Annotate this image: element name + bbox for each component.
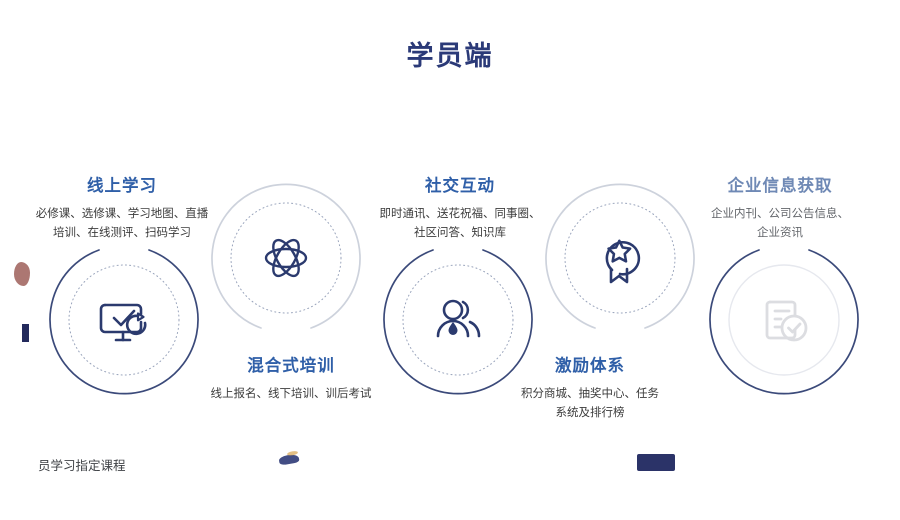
node-desc-enterprise-info-line1: 企业内刊、公司公告信息、 <box>665 205 895 224</box>
scan-artifact-bottom-right-block <box>637 454 675 471</box>
node-title-online-learning: 线上学习 <box>7 172 237 196</box>
document-check-icon <box>752 288 816 352</box>
node-title-blended-training: 混合式培训 <box>176 352 406 376</box>
monitor-check-play-icon <box>92 288 156 352</box>
node-desc-online-learning-line1: 必修课、选修课、学习地图、直播 <box>7 205 237 224</box>
node-desc-blended-training-line1: 线上报名、线下培训、训后考试 <box>176 385 406 404</box>
bottom-caption: 员学习指定课程 <box>38 455 126 474</box>
infographic-canvas: 学员端 线上学习 必修课、选修课、学习地图、直播 培训、在线测评、扫码学习 <box>0 0 900 520</box>
scan-artifact-left-bar <box>22 324 29 342</box>
node-title-incentive-system: 激励体系 <box>475 352 705 376</box>
node-enterprise-info[interactable] <box>704 240 864 400</box>
node-title-enterprise-info: 企业信息获取 <box>665 172 895 196</box>
award-medal-star-icon <box>588 226 652 290</box>
node-desc-incentive-system-line1: 积分商城、抽奖中心、任务 <box>475 385 705 404</box>
page-title: 学员端 <box>0 34 900 73</box>
label-block-online-learning: 线上学习 必修课、选修课、学习地图、直播 培训、在线测评、扫码学习 <box>7 172 237 243</box>
label-block-incentive-system: 激励体系 积分商城、抽奖中心、任务 系统及排行榜 <box>475 352 705 423</box>
scan-artifact-left-blob <box>14 262 30 286</box>
label-block-enterprise-info: 企业信息获取 企业内刊、公司公告信息、 企业资讯 <box>665 172 895 243</box>
label-block-blended-training: 混合式培训 线上报名、线下培训、训后考试 <box>176 352 406 404</box>
atom-icon <box>254 226 318 290</box>
node-desc-incentive-system-line2: 系统及排行榜 <box>475 404 705 423</box>
users-group-icon <box>426 288 490 352</box>
node-blended-training[interactable] <box>206 178 366 338</box>
scan-artifact-bottom-left-smudge <box>278 453 299 465</box>
